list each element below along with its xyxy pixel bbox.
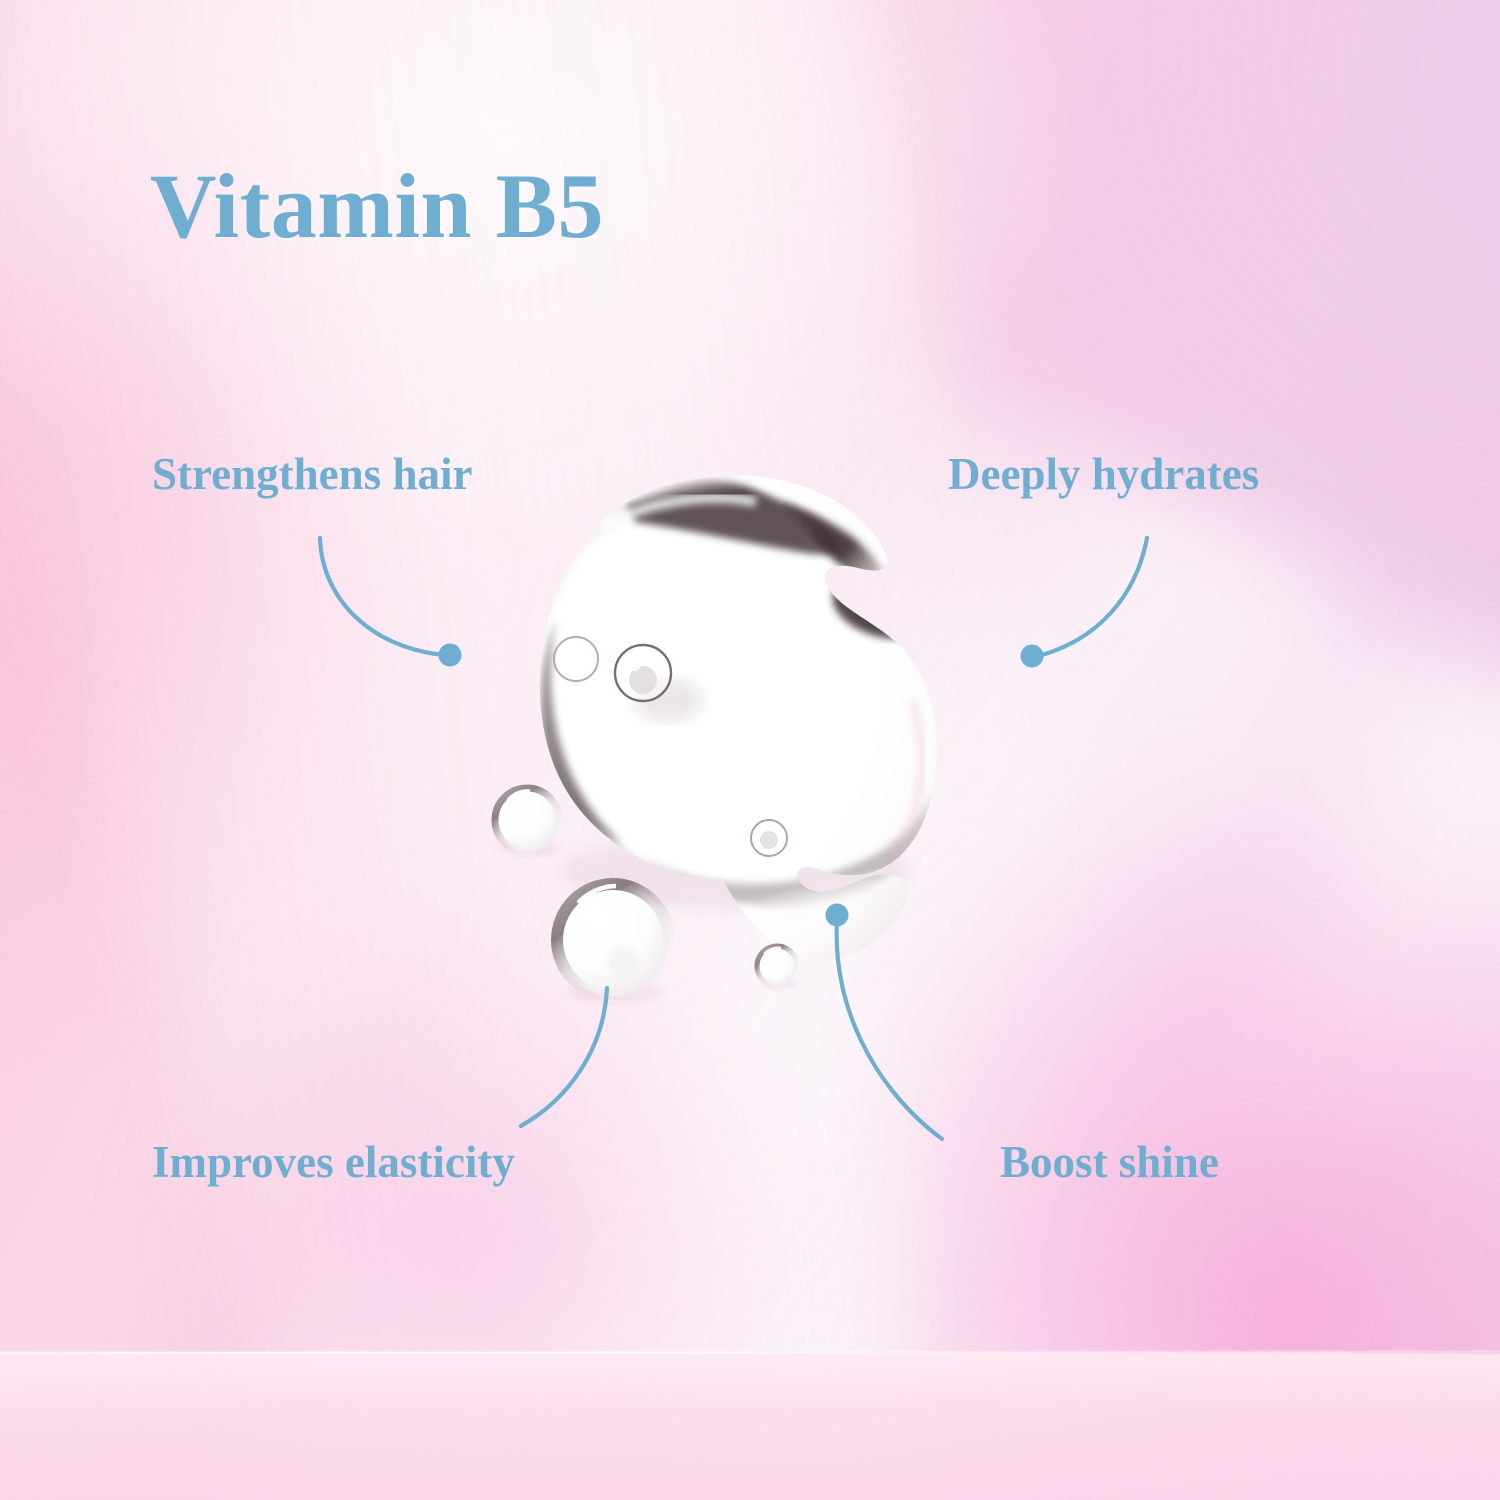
background-horizon-line bbox=[0, 1352, 1500, 1354]
feature-label-boost-shine: Boost shine bbox=[1000, 1140, 1219, 1185]
page-title: Vitamin B5 bbox=[150, 160, 604, 252]
background-surface-plane bbox=[0, 1352, 1500, 1500]
feature-label-deeply-hydrates: Deeply hydrates bbox=[948, 452, 1259, 497]
feature-label-strengthens-hair: Strengthens hair bbox=[152, 452, 472, 497]
poster-canvas: Vitamin B5 Strengthens hair Deeply hydra… bbox=[0, 0, 1500, 1500]
feature-label-improves-elasticity: Improves elasticity bbox=[152, 1140, 515, 1185]
